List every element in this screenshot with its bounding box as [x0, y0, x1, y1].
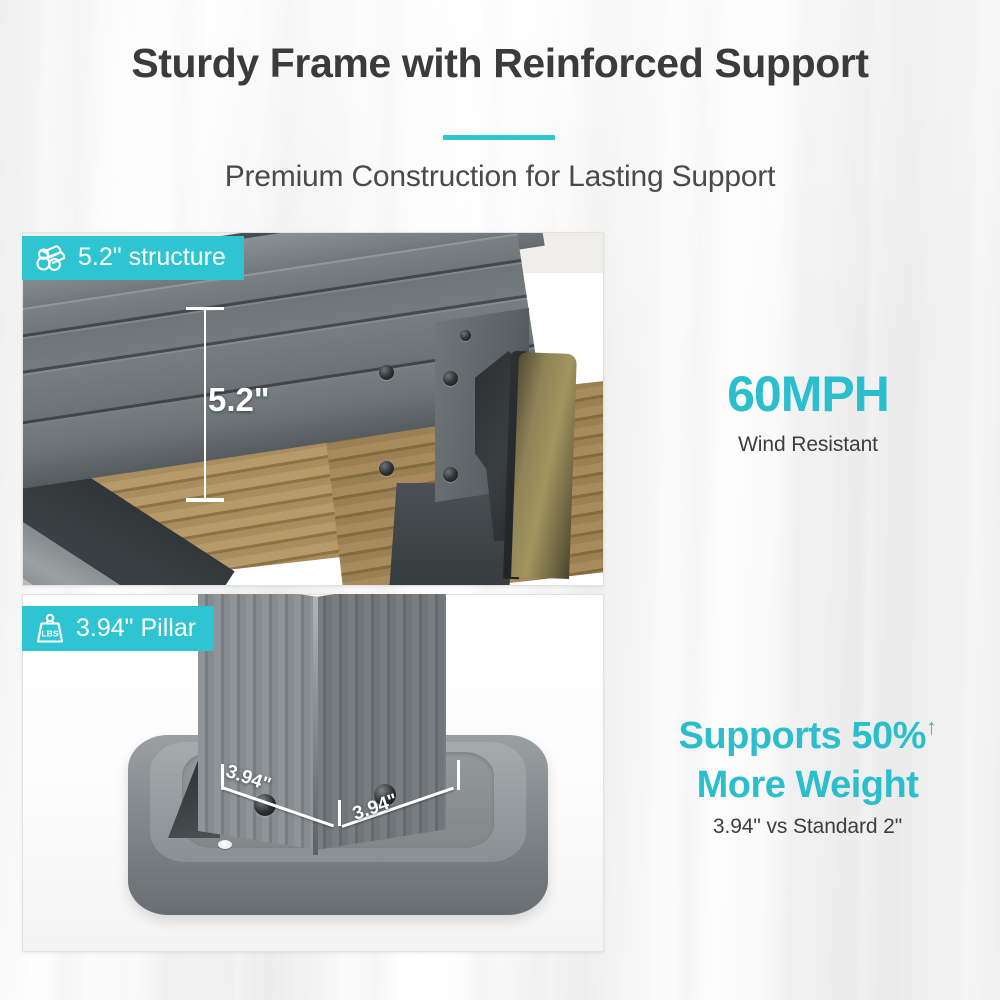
beam-photo-panel — [22, 232, 604, 586]
page-title: Sturdy Frame with Reinforced Support — [0, 40, 1000, 87]
stat-weight-support: Supports 50%↑ More Weight 3.94" vs Stand… — [620, 712, 995, 839]
beam-photo — [23, 233, 603, 585]
dimension-line-vertical — [204, 309, 206, 500]
stat-weight-line1: Supports 50% — [679, 715, 926, 757]
arrow-up-icon: ↑ — [926, 714, 937, 739]
post-corner-edge — [313, 597, 318, 855]
stat-wind-value: 60MPH — [628, 365, 988, 423]
dimension-label-5-2: 5.2" — [208, 381, 270, 419]
dimension-cap-bottom — [186, 498, 224, 502]
stat-weight-line2: More Weight — [620, 761, 995, 810]
badge-structure-label: 5.2" structure — [78, 244, 226, 272]
pergola-beam-assembly — [23, 233, 603, 585]
stat-wind-caption: Wind Resistant — [628, 433, 988, 457]
bolt-icon — [379, 461, 394, 476]
dimension-tick — [338, 800, 341, 826]
stat-weight-line1-row: Supports 50%↑ — [620, 712, 995, 761]
weight-lbs-icon: LBS — [34, 613, 66, 644]
page-subtitle: Premium Construction for Lasting Support — [0, 160, 1000, 194]
badge-structure: 5.2" structure — [22, 236, 244, 280]
bolt-icon — [379, 365, 394, 380]
bolt-icon — [460, 330, 471, 341]
bolt-icon — [443, 467, 458, 482]
dimension-tick — [457, 760, 460, 790]
title-divider — [443, 135, 555, 140]
weight-icon-text: LBS — [41, 628, 58, 638]
stat-wind-resistance: 60MPH Wind Resistant — [628, 365, 988, 457]
anchor-hole — [218, 840, 232, 849]
badge-pillar: LBS 3.94" Pillar — [22, 606, 214, 651]
stat-weight-caption: 3.94" vs Standard 2" — [620, 815, 995, 839]
infographic-page: Sturdy Frame with Reinforced Support Pre… — [0, 0, 1000, 1000]
louver-blade — [511, 352, 577, 579]
stacked-pipes-icon — [34, 243, 68, 273]
bolt-icon — [443, 371, 458, 386]
badge-pillar-label: 3.94" Pillar — [76, 615, 196, 643]
